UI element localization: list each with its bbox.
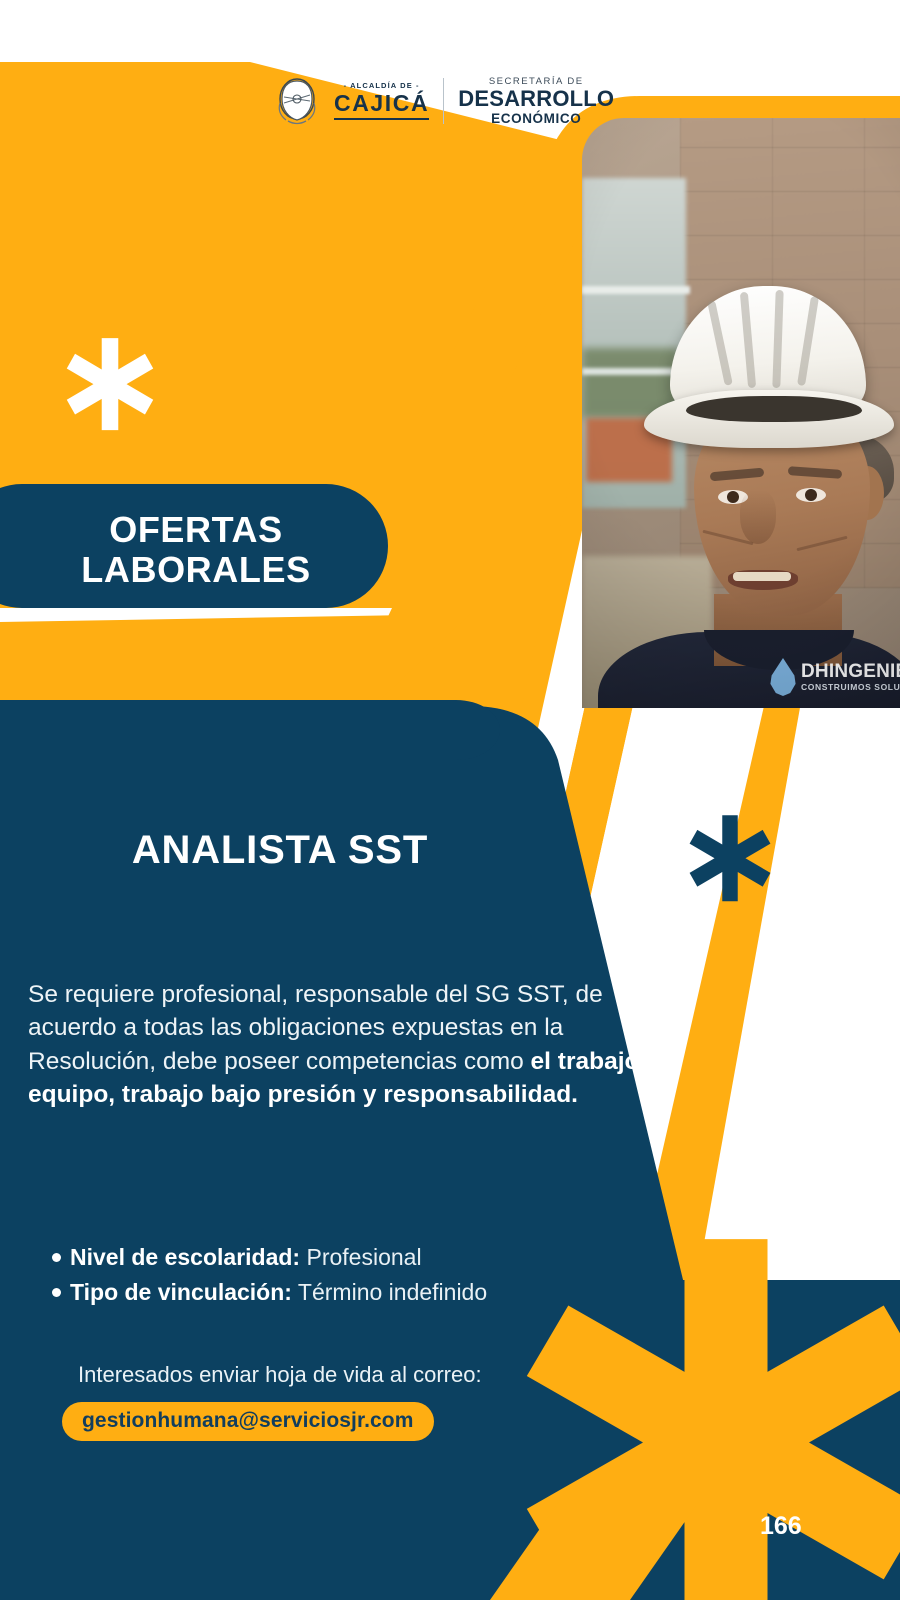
bullet-dot-icon	[52, 1288, 61, 1297]
job-title: ANALISTA SST	[0, 828, 560, 873]
alcaldia-block: - ALCALDÍA DE - CAJICÁ	[334, 82, 429, 120]
contact-email-badge[interactable]: gestionhumana@serviciosjr.com	[62, 1402, 434, 1441]
detail-value: Profesional	[306, 1244, 421, 1270]
ofertas-laborales-banner: OFERTAS LABORALES	[0, 492, 392, 608]
worker-photo: DHINGENIERÍA CONSTRUIMOS SOLUCIONES	[582, 118, 900, 708]
banner-line-1: OFERTAS	[109, 510, 283, 550]
secretaria-line2: ECONÓMICO	[491, 112, 581, 126]
contact-instruction: Interesados enviar hoja de vida al corre…	[78, 1362, 482, 1388]
logo-divider	[443, 78, 444, 124]
secretaria-line1: DESARROLLO	[458, 88, 614, 110]
bullet-dot-icon	[52, 1253, 61, 1262]
detail-key: Tipo de vinculación:	[70, 1279, 292, 1305]
description-plain: Se requiere profesional, responsable del…	[28, 981, 603, 1075]
job-description: Se requiere profesional, responsable del…	[28, 978, 688, 1111]
list-item: Nivel de escolaridad: Profesional	[52, 1242, 692, 1273]
secretaria-block: SECRETARÍA DE DESARROLLO ECONÓMICO	[458, 77, 614, 126]
cajica-coat-of-arms-icon	[274, 75, 320, 127]
poster-canvas: - ALCALDÍA DE - CAJICÁ SECRETARÍA DE DES…	[0, 0, 900, 1600]
alcaldia-name: CAJICÁ	[334, 92, 429, 115]
page-number: 166	[760, 1512, 802, 1541]
detail-key: Nivel de escolaridad:	[70, 1244, 300, 1270]
job-details-list: Nivel de escolaridad: Profesional Tipo d…	[52, 1242, 692, 1312]
institutional-logo: - ALCALDÍA DE - CAJICÁ SECRETARÍA DE DES…	[274, 70, 594, 132]
list-item: Tipo de vinculación: Término indefinido	[52, 1277, 692, 1308]
alcaldia-rule	[334, 118, 429, 120]
detail-value: Término indefinido	[298, 1279, 487, 1305]
banner-line-2: LABORALES	[81, 550, 310, 590]
alcaldia-kicker: - ALCALDÍA DE -	[344, 82, 420, 90]
secretaria-kicker: SECRETARÍA DE	[489, 77, 584, 87]
photo-vignette	[582, 118, 900, 708]
